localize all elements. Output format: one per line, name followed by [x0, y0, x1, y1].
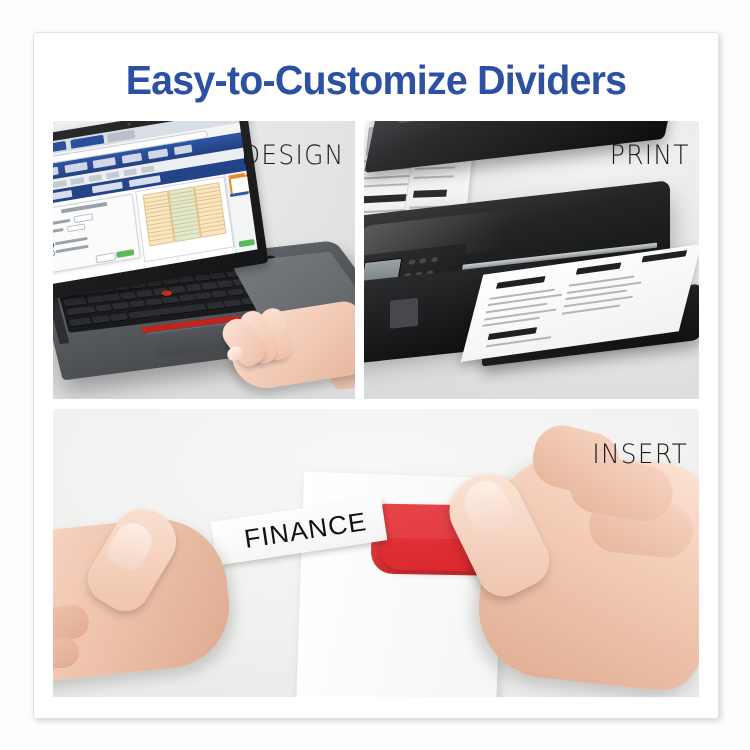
screenshot-stage: Easy-to-Customize Dividers	[0, 0, 750, 750]
dialog-confirm-button[interactable]	[116, 249, 134, 258]
panel-design: DESIGN	[53, 121, 355, 399]
divider-template-grid	[143, 182, 227, 255]
page-title: Easy-to-Customize Dividers	[48, 57, 705, 104]
laptop-illustration	[53, 135, 355, 399]
panel-tag-design: DESIGN	[241, 140, 344, 171]
panel-tag-print: PRINT	[610, 140, 690, 171]
dialog-cancel-button[interactable]	[96, 252, 116, 263]
dialog-title	[61, 202, 108, 214]
webcam-icon	[127, 122, 130, 125]
panel-tag-insert: INSERT	[592, 439, 688, 470]
printer-vent-icon	[390, 298, 418, 329]
product-card: Easy-to-Customize Dividers	[33, 32, 719, 719]
template-preview	[135, 176, 235, 262]
hand-on-laptop	[205, 303, 355, 399]
printer-lid-highlight	[392, 121, 613, 124]
design-dialog	[53, 193, 141, 275]
panel-insert: FINANCE INSERT	[53, 409, 699, 697]
left-hand	[53, 487, 263, 697]
panel-print: PRINT	[364, 121, 699, 399]
